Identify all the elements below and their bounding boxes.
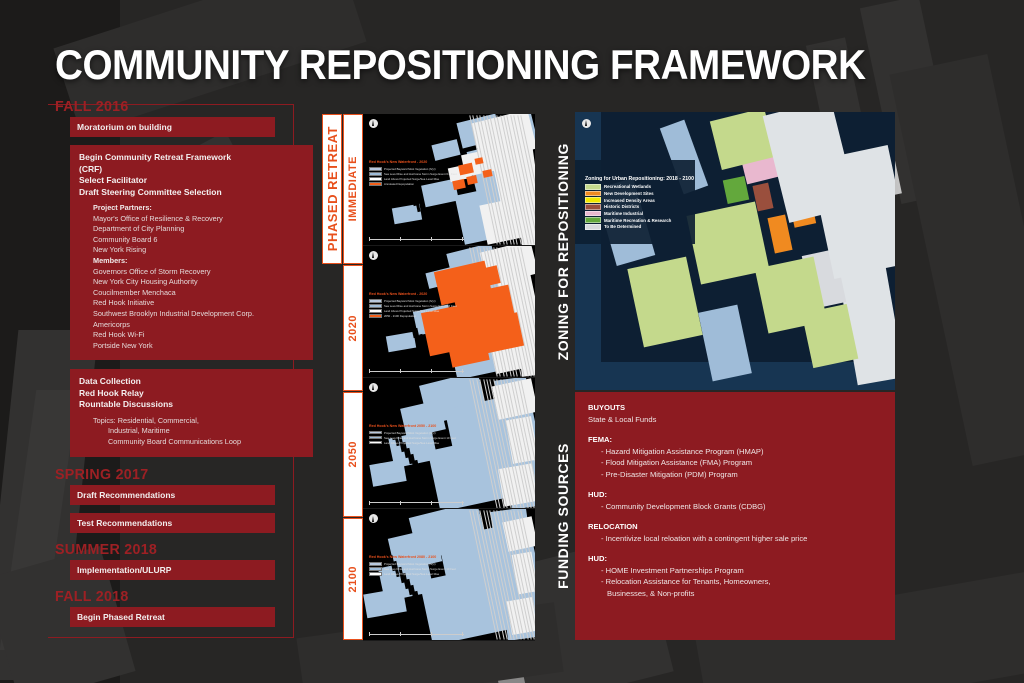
zoning-legend-swatch [585, 224, 601, 230]
funding-item: - HOME Investment Partnerships Program [588, 565, 895, 577]
map-panel-3[interactable]: Red Hook's New Waterfront 2050 - 2100Pro… [363, 378, 535, 510]
map-legend-label: Projected Bayward Most Vegetation (ft/yr… [384, 562, 436, 566]
zoning-legend-row: To Be Determined [585, 224, 694, 230]
map-legend-row: Sea Level Rise and Hurricane Storm Surge… [369, 436, 456, 440]
zoning-legend-row: Maritime Recreation & Research [585, 217, 694, 223]
map-legend-row: Projected Bayward Most Vegetation (ft/yr… [369, 562, 456, 566]
timeline-sub-list: Project Partners:Mayor's Office of Resil… [93, 203, 313, 351]
sub-list-item: New York Rising [93, 245, 313, 256]
map-legend: Projected Bayward Most Vegetation (ft/yr… [369, 430, 456, 445]
sub-list-item: Coucilmember Menchaca [93, 288, 313, 299]
timeline-task-line: Data Collection [79, 376, 313, 388]
timeline-task-block[interactable]: Begin Phased Retreat [70, 607, 275, 627]
funding-item: State & Local Funds [588, 414, 895, 426]
map-legend-row: Annotated Depopulation [369, 182, 457, 186]
zoning-legend-label: Recreational Wetlands [604, 184, 651, 189]
map-legend-swatch [369, 431, 382, 435]
sub-list-item: Red Hook Wi-Fi [93, 330, 313, 341]
zoning-geometry [763, 112, 858, 223]
map-legend-swatch [369, 562, 382, 566]
sub-list-heading: Project Partners: [93, 203, 313, 214]
scale-tick [369, 632, 370, 636]
scale-tick [400, 632, 401, 636]
map-legend-label: Land Above Projected Surge/Sea Level Ris… [384, 309, 439, 313]
zoning-map-panel: Zoning for Urban Repositioning: 2018 - 2… [575, 112, 895, 390]
scale-tick [431, 369, 432, 373]
phased-retreat-era-2050[interactable]: 2050 [343, 392, 363, 517]
phased-retreat-text: PHASED RETREAT [325, 126, 340, 251]
map-scale-bar [369, 500, 464, 505]
timeline-task-line: Draft Recommendations [77, 489, 275, 501]
sub-list-item: New York City Housing Authority [93, 277, 313, 288]
zoning-geometry [686, 201, 769, 284]
timeline-task-line: (CRF) [79, 164, 313, 176]
scale-tick [462, 632, 463, 636]
zoning-legend-swatch [585, 211, 601, 217]
map-legend-row: Sea Level Rise and Hurricane Storm Surge… [369, 304, 457, 308]
zoning-legend-row: Historic Districts [585, 204, 694, 210]
map-scale-bar [369, 632, 464, 637]
scale-tick [400, 501, 401, 505]
map-legend-swatch [369, 167, 382, 171]
map-legend: Projected Bayward Most Vegetation (ft/yr… [369, 298, 457, 318]
map-legend-swatch [369, 304, 382, 308]
north-arrow-icon [369, 251, 378, 260]
map-legend-label: Projected Bayward Most Vegetation (ft/yr… [384, 167, 436, 171]
map-legend-row: Land Above Projected Surge/Sea Level Ris… [369, 572, 456, 576]
map-legend-swatch [369, 177, 382, 181]
map-legend-label: Projected Bayward Most Vegetation (ft/yr… [384, 299, 436, 303]
phased-retreat-era-2020[interactable]: 2020 [343, 265, 363, 391]
map-geometry [431, 139, 460, 161]
sub-list-item: Community Board 6 [93, 235, 313, 246]
timeline-task-line: Moratorium on building [77, 121, 275, 133]
map-legend-label: Land Above Projected Surge/Sea Level Ris… [384, 441, 439, 445]
zoning-legend-label: Maritime Recreation & Research [604, 218, 671, 223]
timeline-task-line: Begin Community Retreat Framework [79, 152, 313, 164]
map-legend-row: Projected Bayward Most Vegetation (ft/yr… [369, 167, 457, 171]
map-geometry [369, 459, 406, 487]
map-title: Red Hook's New Waterfront - 2020 [369, 292, 427, 296]
map-legend-row: Land Above Projected Surge/Sea Level Ris… [369, 177, 457, 181]
zoning-legend-swatch [585, 197, 601, 203]
timeline-task-line: Red Hook Relay [79, 388, 313, 400]
map-legend-swatch [369, 309, 382, 313]
scale-tick [369, 369, 370, 373]
map-legend-label: Annotated Depopulation [384, 182, 414, 186]
funding-heading: HUD: [588, 489, 895, 501]
scale-tick [431, 632, 432, 636]
map-legend-row: Sea Level Rise and Hurricane Storm Surge… [369, 172, 457, 176]
map-legend-swatch [369, 314, 382, 318]
map-legend-label: Land Above Projected Surge/Sea Level Ris… [384, 572, 439, 576]
sub-list-item: Portside New York [93, 341, 313, 352]
zoning-side-label: ZONING FOR REPOSITIONING [552, 112, 574, 392]
zoning-legend-swatch [585, 204, 601, 210]
map-scale-bar [369, 237, 464, 242]
zoning-legend: Zoning for Urban Repositioning: 2018 - 2… [585, 176, 694, 231]
zoning-legend-row: Recreational Wetlands [585, 184, 694, 190]
funding-spacer [588, 480, 895, 489]
timeline-task-line: Implementation/ULURP [77, 564, 275, 576]
funding-item: - Hazard Mitigation Assistance Program (… [588, 446, 895, 458]
timeline-season-heading: FALL 2018 [55, 588, 283, 605]
zoning-legend-label: Increased Density Areas [604, 198, 655, 203]
north-arrow-icon [582, 119, 591, 128]
funding-heading: HUD: [588, 553, 895, 565]
timeline-task-line: Draft Steering Committee Selection [79, 187, 313, 199]
sub-list-item: Industrial, Maritime [93, 426, 313, 437]
zoning-legend-label: New Development Sites [604, 191, 654, 196]
funding-heading: FEMA: [588, 434, 895, 446]
era-label: 2050 [347, 441, 359, 467]
zoning-legend-label: To Be Determined [604, 224, 641, 229]
funding-item: - Flood Mitigation Assistance (FMA) Prog… [588, 457, 895, 469]
map-panel-1[interactable]: Red Hook's New Waterfront - 2020Projecte… [363, 114, 535, 246]
timeline-task-block[interactable]: Test Recommendations [70, 513, 275, 533]
funding-heading: BUYOUTS [588, 402, 895, 414]
zoning-geometry [575, 112, 601, 390]
map-geometry [419, 334, 425, 350]
timeline-task-block[interactable]: Moratorium on building [70, 117, 275, 137]
scale-tick [369, 501, 370, 505]
map-legend-swatch [369, 172, 382, 176]
map-legend-label: Sea Level Rise and Hurricane Storm Surge… [384, 304, 457, 308]
scale-tick [431, 237, 432, 241]
zoning-legend-label: Maritime Industrial [604, 211, 643, 216]
zoning-geometry [627, 257, 702, 348]
map-geometry [363, 588, 407, 619]
map-legend-row: 2050 - 2100 Depopulation [369, 314, 457, 318]
map-legend-swatch [369, 182, 382, 186]
sub-list-item: Southwest Brooklyn Industrial Developmen… [93, 309, 313, 320]
timeline-task-line: Test Recommendations [77, 517, 275, 529]
map-geometry [386, 331, 416, 352]
map-legend: Projected Bayward Most Vegetation (ft/yr… [369, 561, 456, 576]
page-title: COMMUNITY REPOSITIONING FRAMEWORK [55, 40, 866, 90]
map-legend-swatch [369, 567, 382, 571]
timeline-task-block[interactable]: Data CollectionRed Hook RelayRountable D… [70, 369, 313, 456]
north-arrow-icon [369, 119, 378, 128]
timeline-task-block[interactable]: Implementation/ULURP [70, 560, 275, 580]
timeline-task-line: Select Facilitator [79, 175, 313, 187]
map-title: Red Hook's New Waterfront 2050 - 2100 [369, 424, 436, 428]
funding-side-label: FUNDING SOURCES [552, 392, 574, 640]
era-label: 2020 [347, 315, 359, 341]
scale-tick [462, 237, 463, 241]
scale-tick [431, 501, 432, 505]
scale-tick [462, 369, 463, 373]
zoning-legend-row: New Development Sites [585, 191, 694, 197]
zoning-legend-label: Historic Districts [604, 204, 639, 209]
north-arrow-icon [369, 383, 378, 392]
timeline-task-block[interactable]: Begin Community Retreat Framework(CRF)Se… [70, 145, 313, 360]
era-label: IMMEDIATE [347, 156, 359, 221]
funding-spacer [588, 512, 895, 521]
north-arrow-icon [369, 514, 378, 523]
map-title: Red Hook's New Waterfront - 2020 [369, 160, 427, 164]
funding-spacer [588, 425, 895, 434]
funding-item: Businesses, & Non-profits [588, 588, 895, 600]
map-legend-label: Projected Bayward Most Vegetation (ft/yr… [384, 431, 436, 435]
zoning-legend-title: Zoning for Urban Repositioning: 2018 - 2… [585, 176, 694, 182]
sub-list-item: Department of City Planning [93, 224, 313, 235]
map-legend-swatch [369, 572, 382, 576]
sub-list-item: Community Board Communications Loop [93, 437, 313, 448]
map-legend-label: Sea Level Rise and Hurricane Storm Surge… [384, 436, 456, 440]
sub-list-item: Americorps [93, 320, 313, 331]
zoning-legend-swatch [585, 191, 601, 197]
map-legend-label: Sea Level Rise and Hurricane Storm Surge… [384, 567, 456, 571]
map-title: Red Hook's New Waterfront 2080 - 2100 [369, 555, 436, 559]
sub-list-item: Mayor's Office of Resilience & Recovery [93, 214, 313, 225]
map-legend-row: Projected Bayward Most Vegetation (ft/yr… [369, 299, 457, 303]
sub-list-item: Governors Office of Storm Recovery [93, 267, 313, 278]
zoning-legend-row: Maritime Industrial [585, 211, 694, 217]
scale-tick [462, 501, 463, 505]
timeline-task-line: Begin Phased Retreat [77, 611, 275, 623]
phased-retreat-era-immediate[interactable]: IMMEDIATE [343, 114, 363, 264]
scale-tick [369, 237, 370, 241]
sub-list-heading: Members: [93, 256, 313, 267]
funding-sources-panel: BUYOUTSState & Local FundsFEMA:- Hazard … [575, 392, 895, 640]
phased-retreat-era-2100[interactable]: 2100 [343, 518, 363, 640]
timeline-task-block[interactable]: Draft Recommendations [70, 485, 275, 505]
map-panel-4[interactable]: Red Hook's New Waterfront 2080 - 2100Pro… [363, 509, 535, 641]
map-legend-swatch [369, 436, 382, 440]
map-legend: Projected Bayward Most Vegetation (ft/yr… [369, 166, 457, 186]
funding-side-label-text: FUNDING SOURCES [555, 443, 571, 589]
timeline-season-heading: SUMMER 2018 [55, 541, 283, 558]
funding-heading: RELOCATION [588, 521, 895, 533]
scale-tick [400, 237, 401, 241]
phased-retreat-map-column: Red Hook's New Waterfront - 2020Projecte… [363, 114, 535, 641]
timeline-season-heading: FALL 2016 [55, 98, 283, 115]
zoning-side-label-text: ZONING FOR REPOSITIONING [555, 143, 571, 360]
timeline-column: FALL 2016Moratorium on buildingBegin Com… [55, 98, 295, 635]
funding-item: - Relocation Assistance for Tenants, Hom… [588, 576, 895, 588]
map-legend-row: Land Above Projected Surge/Sea Level Ris… [369, 441, 456, 445]
funding-item: - Community Development Block Grants (CD… [588, 501, 895, 513]
map-scale-bar [369, 369, 464, 374]
era-label: 2100 [347, 566, 359, 592]
timeline-season-heading: SPRING 2017 [55, 466, 283, 483]
map-legend-label: Land Above Projected Surge/Sea Level Ris… [384, 177, 439, 181]
timeline-task-line: Rountable Discussions [79, 399, 313, 411]
map-legend-row: Land Above Projected Surge/Sea Level Ris… [369, 309, 457, 313]
funding-item: - Incentivize local reloation with a con… [588, 533, 895, 545]
zoning-legend-row: Increased Density Areas [585, 197, 694, 203]
zoning-legend-swatch [585, 217, 601, 223]
map-legend-row: Projected Bayward Most Vegetation (ft/yr… [369, 431, 456, 435]
map-legend-swatch [369, 299, 382, 303]
map-legend-label: 2050 - 2100 Depopulation [384, 314, 416, 318]
scale-tick [400, 369, 401, 373]
map-legend-row: Sea Level Rise and Hurricane Storm Surge… [369, 567, 456, 571]
sub-list-item: Topics: Residential, Commercial, [93, 416, 313, 427]
map-panel-2[interactable]: Red Hook's New Waterfront - 2020Projecte… [363, 246, 535, 378]
phased-retreat-label: PHASED RETREAT [322, 114, 342, 264]
funding-item: - Pre-Disaster Mitigation (PDM) Program [588, 469, 895, 481]
zoning-legend-swatch [585, 184, 601, 190]
timeline-sub-list: Topics: Residential, Commercial,Industri… [93, 416, 313, 448]
funding-spacer [588, 544, 895, 553]
map-legend-label: Sea Level Rise and Hurricane Storm Surge… [384, 172, 457, 176]
map-geometry [419, 465, 425, 481]
map-legend-swatch [369, 441, 382, 445]
sub-list-item: Red Hook Initiative [93, 298, 313, 309]
